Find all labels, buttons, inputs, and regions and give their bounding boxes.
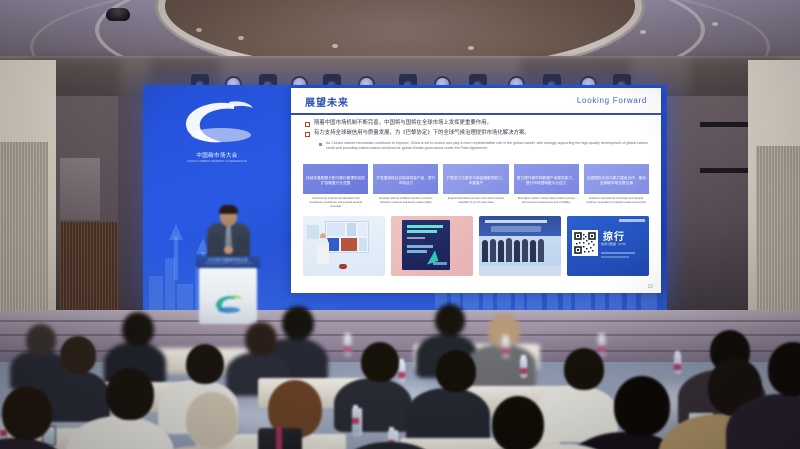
water-bottle: [674, 354, 681, 374]
speaker-person: [200, 206, 256, 262]
ceiling-downlight: [332, 44, 338, 48]
slide-bullet-list: 随着中国市场机制不断完善，中国将与国将在全球市场上发挥更重要作用。 有力支持全球…: [305, 120, 649, 151]
slide-bullet-text: 有力支持全球碳信用与质量发展，为《巴黎协定》下的全球气候治理提供市场化解决方案。: [314, 130, 530, 137]
highlight-box-heading: 加强国际交流与能力建设合作，推动全球碳市场互联互通: [584, 164, 649, 194]
podium-banner: 2025年中国碳市场大会 CHINA CARBON MARKET CONFERE…: [196, 256, 260, 268]
highlight-box-heading: 着力提升碳市场数据产品服务能力，提升市场透明度与公信力: [514, 164, 579, 194]
ceiling-downlight: [640, 30, 646, 34]
wall-panel-wood-right: [756, 146, 800, 320]
slide-highlight-boxes: 持续完善配额分配与履约管理机制并扩容覆盖行业范围 Continuously im…: [303, 164, 649, 211]
thumbnail-qr-card: 掠行 信用与数据（CTD）: [567, 216, 649, 276]
ceiling-downlight: [468, 46, 474, 50]
slide-bullet-text: 随着中国市场机制不断完善，中国将与国将在全球市场上发挥更重要作用。: [314, 120, 492, 127]
highlight-box-body: Develop national certified voluntary emi…: [373, 194, 438, 208]
water-bottle: [344, 336, 351, 356]
slide-thumbnail-row: 掠行 信用与数据（CTD）: [303, 216, 649, 276]
slide-bullet: 随着中国市场机制不断完善，中国将与国将在全球市场上发挥更重要作用。: [305, 120, 649, 127]
highlight-box-body: Continuously improve the allocation and …: [303, 194, 368, 211]
slide-title-cn: 展望未来: [305, 94, 349, 109]
security-camera-icon: [106, 8, 130, 21]
highlight-box-heading: 开发国家核证自愿减排量产品，提升市场活力: [373, 164, 438, 194]
conference-logo: 中国碳市场大会 CHINA CARBON MARKET CONFERENCE: [174, 97, 260, 169]
backpack-strap: [276, 426, 282, 449]
water-bottle: [520, 358, 527, 378]
conference-logo-label-cn: 中国碳市场大会: [174, 151, 260, 159]
qr-card-title: 掠行: [603, 228, 625, 243]
water-bottle: [598, 336, 605, 356]
highlight-box-body: Enhance international exchange and capac…: [584, 194, 649, 208]
highlight-box: 扩展多方位服务与碳金融服务能力，丰富客户 Expand diversified …: [443, 164, 508, 211]
conference-logo-label-en: CHINA CARBON MARKET CONFERENCE: [174, 159, 260, 163]
speaker-hand: [224, 246, 233, 254]
wall-panel-dark-right: [664, 96, 750, 320]
speaker-hair: [219, 205, 238, 214]
slide-page-number: 12: [647, 284, 653, 290]
highlight-box-body: Strengthen carbon market data product se…: [514, 194, 579, 208]
wall-panel-wood-left: [0, 142, 48, 320]
swoosh-icon: [174, 97, 260, 149]
slide-divider: [291, 113, 661, 115]
slide-bullet: 有力支持全球碳信用与质量发展，为《巴黎协定》下的全球气候治理提供市场化解决方案。: [305, 130, 649, 137]
wall-reveal-right-2: [700, 168, 752, 173]
wall-recess-left: [60, 158, 100, 220]
qr-card-subtitle: 信用与数据（CTD）: [601, 243, 637, 247]
slide-sub-bullet: As China's market mechanism continues to…: [319, 141, 649, 151]
ceiling-downlight: [238, 36, 244, 40]
thumbnail-report-cover: [391, 216, 473, 276]
bullet-marker-icon: [305, 122, 310, 127]
wall-panel-left-edge: [118, 96, 146, 320]
conference-hall-photo: 中国碳市场大会 CHINA CARBON MARKET CONFERENCE 展…: [0, 0, 800, 449]
audience-area: [0, 300, 800, 449]
highlight-box-heading: 持续完善配额分配与履约管理机制并扩容覆盖行业范围: [303, 164, 368, 194]
thumbnail-presentation-photo: [303, 216, 385, 276]
sub-bullet-marker-icon: [319, 143, 322, 146]
slide-sub-bullet-text: As China's market mechanism continues to…: [326, 141, 649, 151]
presentation-slide: 展望未来 Looking Forward 随着中国市场机制不断完善，中国将与国将…: [291, 88, 661, 293]
highlight-box: 加强国际交流与能力建设合作，推动全球碳市场互联互通 Enhance intern…: [584, 164, 649, 211]
highlight-box: 开发国家核证自愿减排量产品，提升市场活力 Develop national ce…: [373, 164, 438, 211]
wall-reveal-right-1: [700, 122, 752, 127]
water-bottle: [352, 408, 362, 436]
thumbnail-group-photo: [479, 216, 561, 276]
podium-banner-en: CHINA CARBON MARKET CONFERENCE 2025: [196, 263, 260, 265]
water-bottle: [502, 338, 509, 358]
bullet-marker-icon: [305, 132, 310, 137]
slide-header: 展望未来 Looking Forward: [291, 88, 661, 114]
water-bottle: [398, 362, 405, 382]
highlight-box-heading: 扩展多方位服务与碳金融服务能力，丰富客户: [443, 164, 508, 194]
ceiling-downlight: [712, 22, 718, 26]
slide-title-en: Looking Forward: [577, 96, 647, 105]
highlight-box: 持续完善配额分配与履约管理机制并扩容覆盖行业范围 Continuously im…: [303, 164, 368, 211]
highlight-box: 着力提升碳市场数据产品服务能力，提升市场透明度与公信力 Strengthen c…: [514, 164, 579, 211]
highlight-box-body: Expand diversified services and carbon f…: [443, 194, 508, 208]
ceiling-downlight: [196, 28, 202, 32]
